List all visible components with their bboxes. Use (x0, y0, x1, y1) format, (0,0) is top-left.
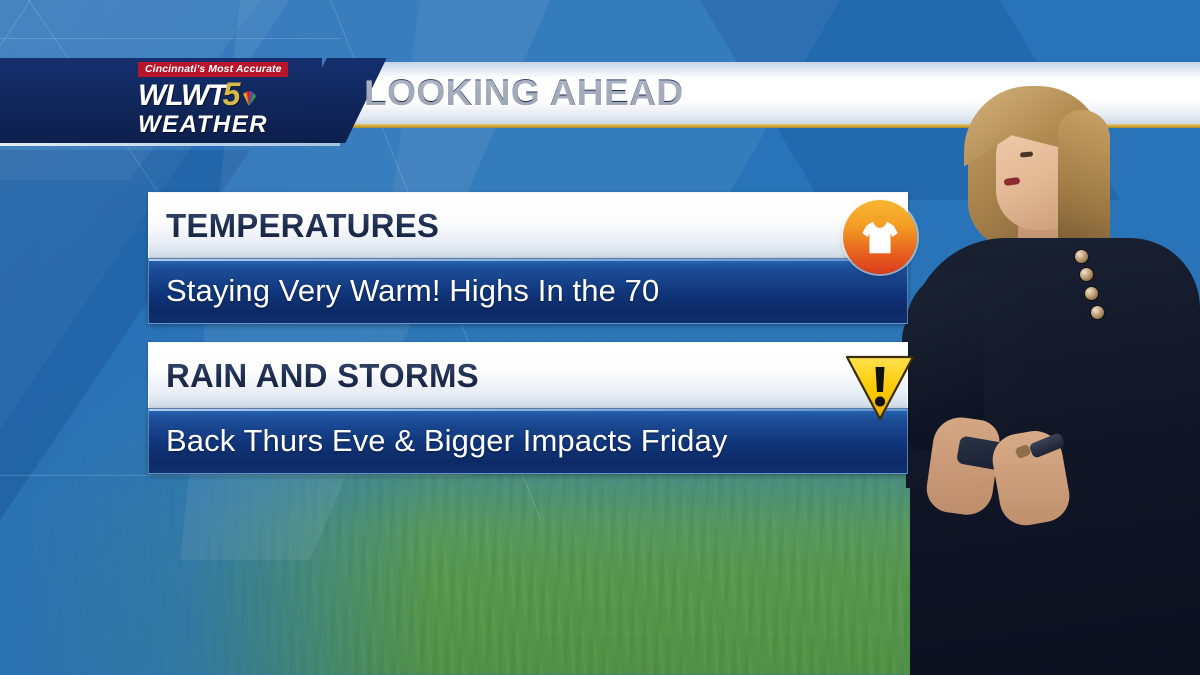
dress-button-icon (1080, 268, 1093, 281)
presenter-figure (900, 0, 1200, 675)
page-title: LOOKING AHEAD (364, 72, 684, 114)
dress-button-icon (1091, 306, 1104, 319)
tshirt-glyph (857, 214, 903, 260)
forecast-card-list: TEMPERATURES Staying Very Warm! Highs In… (148, 192, 908, 492)
background-hairline (0, 38, 340, 39)
forecast-card-temperatures: TEMPERATURES Staying Very Warm! Highs In… (148, 192, 908, 324)
station-logo-underline (0, 143, 340, 146)
card-header: TEMPERATURES (148, 192, 908, 258)
card-body: Staying Very Warm! Highs In the 70 (148, 258, 908, 324)
station-logo: Cincinnati's Most Accurate WLWT 5 WEATHE… (138, 62, 318, 140)
warning-triangle-icon (843, 350, 917, 424)
card-body: Back Thurs Eve & Bigger Impacts Friday (148, 408, 908, 474)
nbc-peacock-icon (236, 86, 262, 112)
card-heading-label: RAIN AND STORMS (166, 357, 479, 395)
station-callsign: WLWT (138, 81, 226, 111)
forecast-card-rain-and-storms: RAIN AND STORMS Back Thurs Eve & Bigger … (148, 342, 908, 474)
card-detail-label: Staying Very Warm! Highs In the 70 (166, 273, 659, 309)
station-subtitle: WEATHER (138, 113, 268, 137)
station-tagline: Cincinnati's Most Accurate (138, 62, 288, 77)
dress-button-icon (1085, 287, 1098, 300)
warning-triangle-glyph (843, 350, 917, 424)
station-callsign-row: WLWT 5 (138, 78, 240, 111)
dress-button-icon (1075, 250, 1088, 263)
card-heading-label: TEMPERATURES (166, 207, 439, 245)
broadcast-graphic-stage: LOOKING AHEAD Cincinnati's Most Accurate… (0, 0, 1200, 675)
card-header: RAIN AND STORMS (148, 342, 908, 408)
card-detail-label: Back Thurs Eve & Bigger Impacts Friday (166, 423, 727, 459)
tshirt-icon (843, 200, 917, 274)
